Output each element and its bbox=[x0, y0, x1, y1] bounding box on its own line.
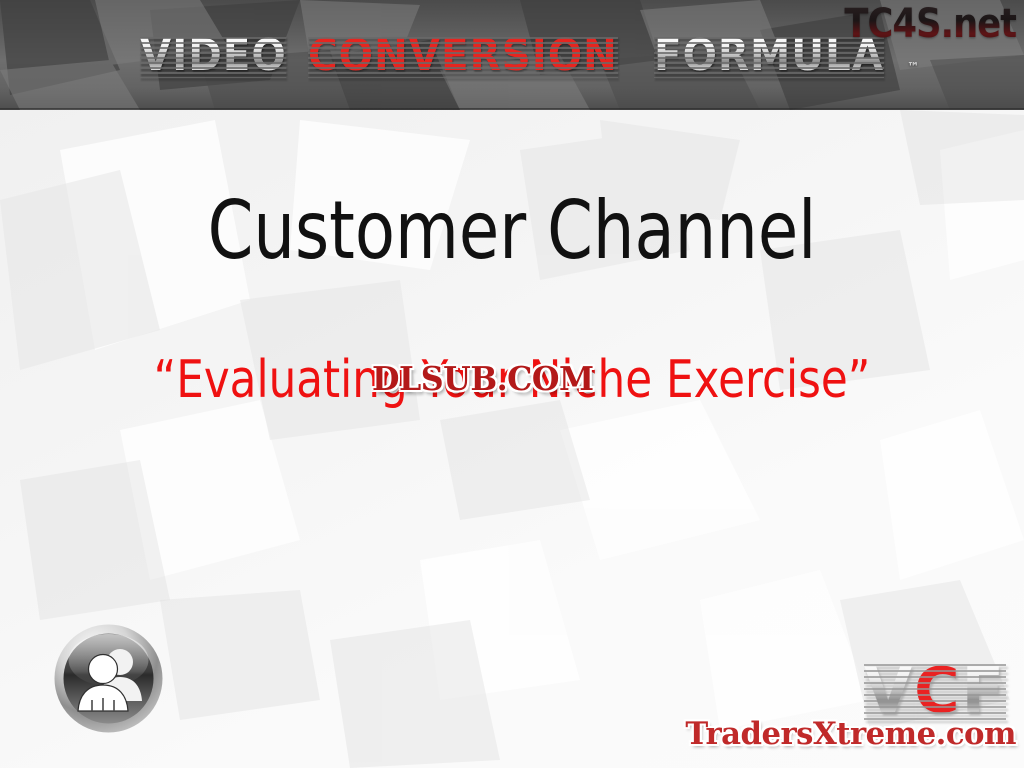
slide-header-banner: VIDEO CONVERSION FORMULA ™ TC4S.net bbox=[0, 0, 1024, 110]
logo-word-video-text: VIDEO bbox=[140, 30, 287, 81]
dlsub-watermark: DLSUB.COM bbox=[372, 361, 594, 397]
tradersxtreme-logo[interactable]: TradersXtreme.com bbox=[685, 716, 1016, 752]
vcf-logo: V C F bbox=[864, 660, 1006, 722]
tc4s-corner-logo[interactable]: TC4S.net bbox=[844, 2, 1016, 46]
vcf-letter-f: F bbox=[962, 660, 1006, 722]
people-group-icon bbox=[52, 622, 165, 735]
slide-title: Customer Channel bbox=[92, 188, 932, 274]
header-bottom-edge bbox=[0, 108, 1024, 110]
logo-word-conversion-text: CONVERSION bbox=[308, 30, 618, 81]
presentation-slide: VIDEO CONVERSION FORMULA ™ TC4S.net Cust… bbox=[0, 0, 1024, 768]
trademark-symbol: ™ bbox=[907, 60, 919, 74]
logo-word-video: VIDEO bbox=[140, 34, 287, 78]
vcf-letter-c: C bbox=[914, 660, 962, 722]
video-conversion-formula-logo: VIDEO CONVERSION FORMULA ™ bbox=[140, 34, 919, 78]
logo-word-conversion: CONVERSION bbox=[308, 34, 618, 78]
vcf-letter-v: V bbox=[864, 660, 914, 722]
